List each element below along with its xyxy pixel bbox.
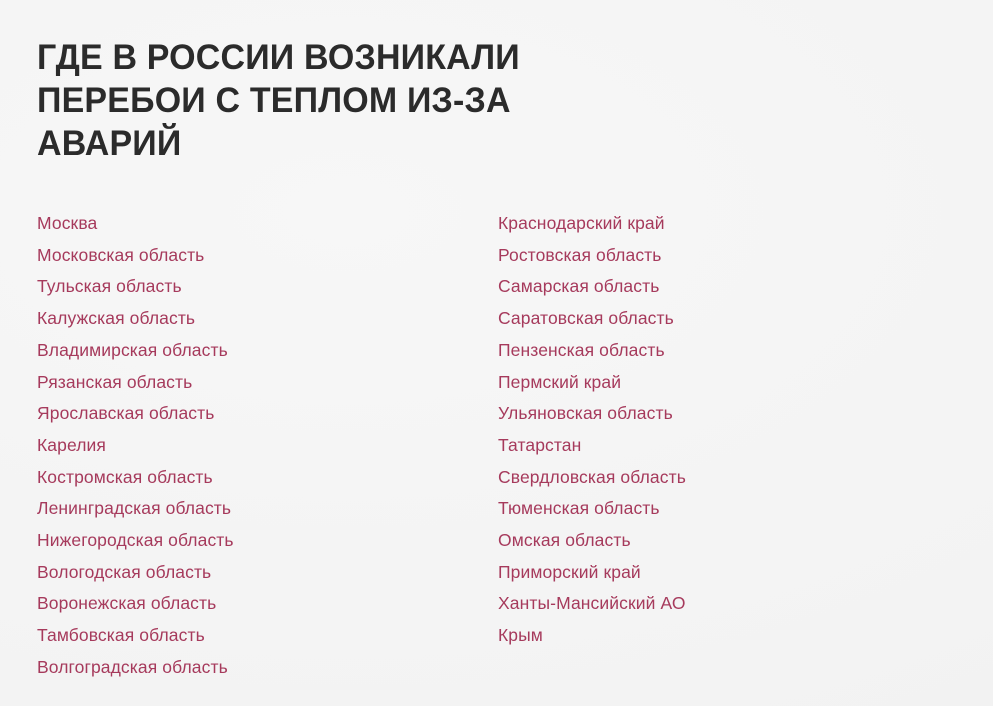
region-list-item-left: Москва: [37, 208, 498, 240]
region-list-item-left: Тульская область: [37, 271, 498, 303]
region-list-item-right: Ростовская область: [498, 240, 938, 272]
region-list-item-right: Ханты-Мансийский АО: [498, 588, 938, 620]
region-list-item-left: Вологодская область: [37, 557, 498, 589]
region-list-item-right: Крым: [498, 620, 938, 652]
region-list-item-left: Волгоградская область: [37, 652, 498, 684]
page-title: ГДЕ В РОССИИ ВОЗНИКАЛИ ПЕРЕБОИ С ТЕПЛОМ …: [37, 36, 697, 165]
region-list-item-right: Ульяновская область: [498, 398, 938, 430]
region-list-right-column: Краснодарский крайРостовская областьСама…: [498, 208, 938, 652]
region-list-item-right: Пензенская область: [498, 335, 938, 367]
region-list-item-left: Рязанская область: [37, 367, 498, 399]
region-list-item-left: Калужская область: [37, 303, 498, 335]
region-list-item-right: Пермский край: [498, 367, 938, 399]
region-list-left-column: МоскваМосковская областьТульская область…: [37, 208, 498, 684]
region-list: МоскваМосковская областьТульская область…: [37, 208, 957, 684]
region-list-item-left: Ярославская область: [37, 398, 498, 430]
poster-infographic: ГДЕ В РОССИИ ВОЗНИКАЛИ ПЕРЕБОИ С ТЕПЛОМ …: [0, 0, 993, 706]
region-list-item-right: Свердловская область: [498, 462, 938, 494]
region-list-item-left: Владимирская область: [37, 335, 498, 367]
region-list-item-left: Карелия: [37, 430, 498, 462]
region-list-item-left: Тамбовская область: [37, 620, 498, 652]
region-list-item-right: Саратовская область: [498, 303, 938, 335]
region-list-item-right: Омская область: [498, 525, 938, 557]
region-list-item-left: Нижегородская область: [37, 525, 498, 557]
region-list-item-left: Костромская область: [37, 462, 498, 494]
region-list-item-left: Воронежская область: [37, 588, 498, 620]
title-block: ГДЕ В РОССИИ ВОЗНИКАЛИ ПЕРЕБОИ С ТЕПЛОМ …: [37, 36, 717, 165]
region-list-item-right: Самарская область: [498, 271, 938, 303]
region-list-item-right: Краснодарский край: [498, 208, 938, 240]
region-list-item-left: Ленинградская область: [37, 493, 498, 525]
region-list-item-right: Приморский край: [498, 557, 938, 589]
region-list-item-right: Татарстан: [498, 430, 938, 462]
region-list-item-right: Тюменская область: [498, 493, 938, 525]
region-list-item-left: Московская область: [37, 240, 498, 272]
